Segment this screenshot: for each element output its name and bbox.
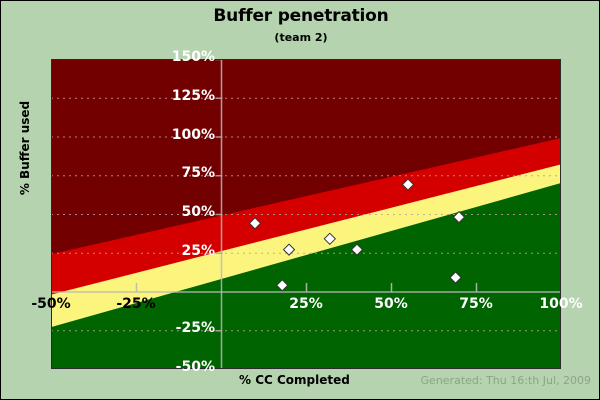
x-tick-label: 25% [276,296,336,312]
plot-area [51,59,561,369]
y-tick-label: -50% [155,359,215,375]
y-tick-label: 125% [155,88,215,104]
y-tick-label: 75% [155,165,215,181]
x-tick-label: -25% [106,296,166,312]
x-tick-label: 50% [361,296,421,312]
plot-svg [51,59,561,369]
y-tick-label: -25% [155,320,215,336]
generated-timestamp: Generated: Thu 16:th Jul, 2009 [421,374,591,387]
x-tick-label: 75% [446,296,506,312]
y-tick-label: 150% [155,49,215,65]
y-tick-label: 100% [155,127,215,143]
x-tick-label: -50% [21,296,81,312]
x-tick-label: 100% [531,296,591,312]
y-tick-label: 50% [155,204,215,220]
page-title: Buffer penetration [1,6,600,26]
chart-subtitle: (team 2) [1,31,600,44]
x-axis-label: % CC Completed [239,373,350,387]
chart-canvas: Buffer penetration (team 2) % Buffer use… [0,0,600,400]
y-axis-label: % Buffer used [18,78,32,218]
y-tick-label: 25% [155,243,215,259]
